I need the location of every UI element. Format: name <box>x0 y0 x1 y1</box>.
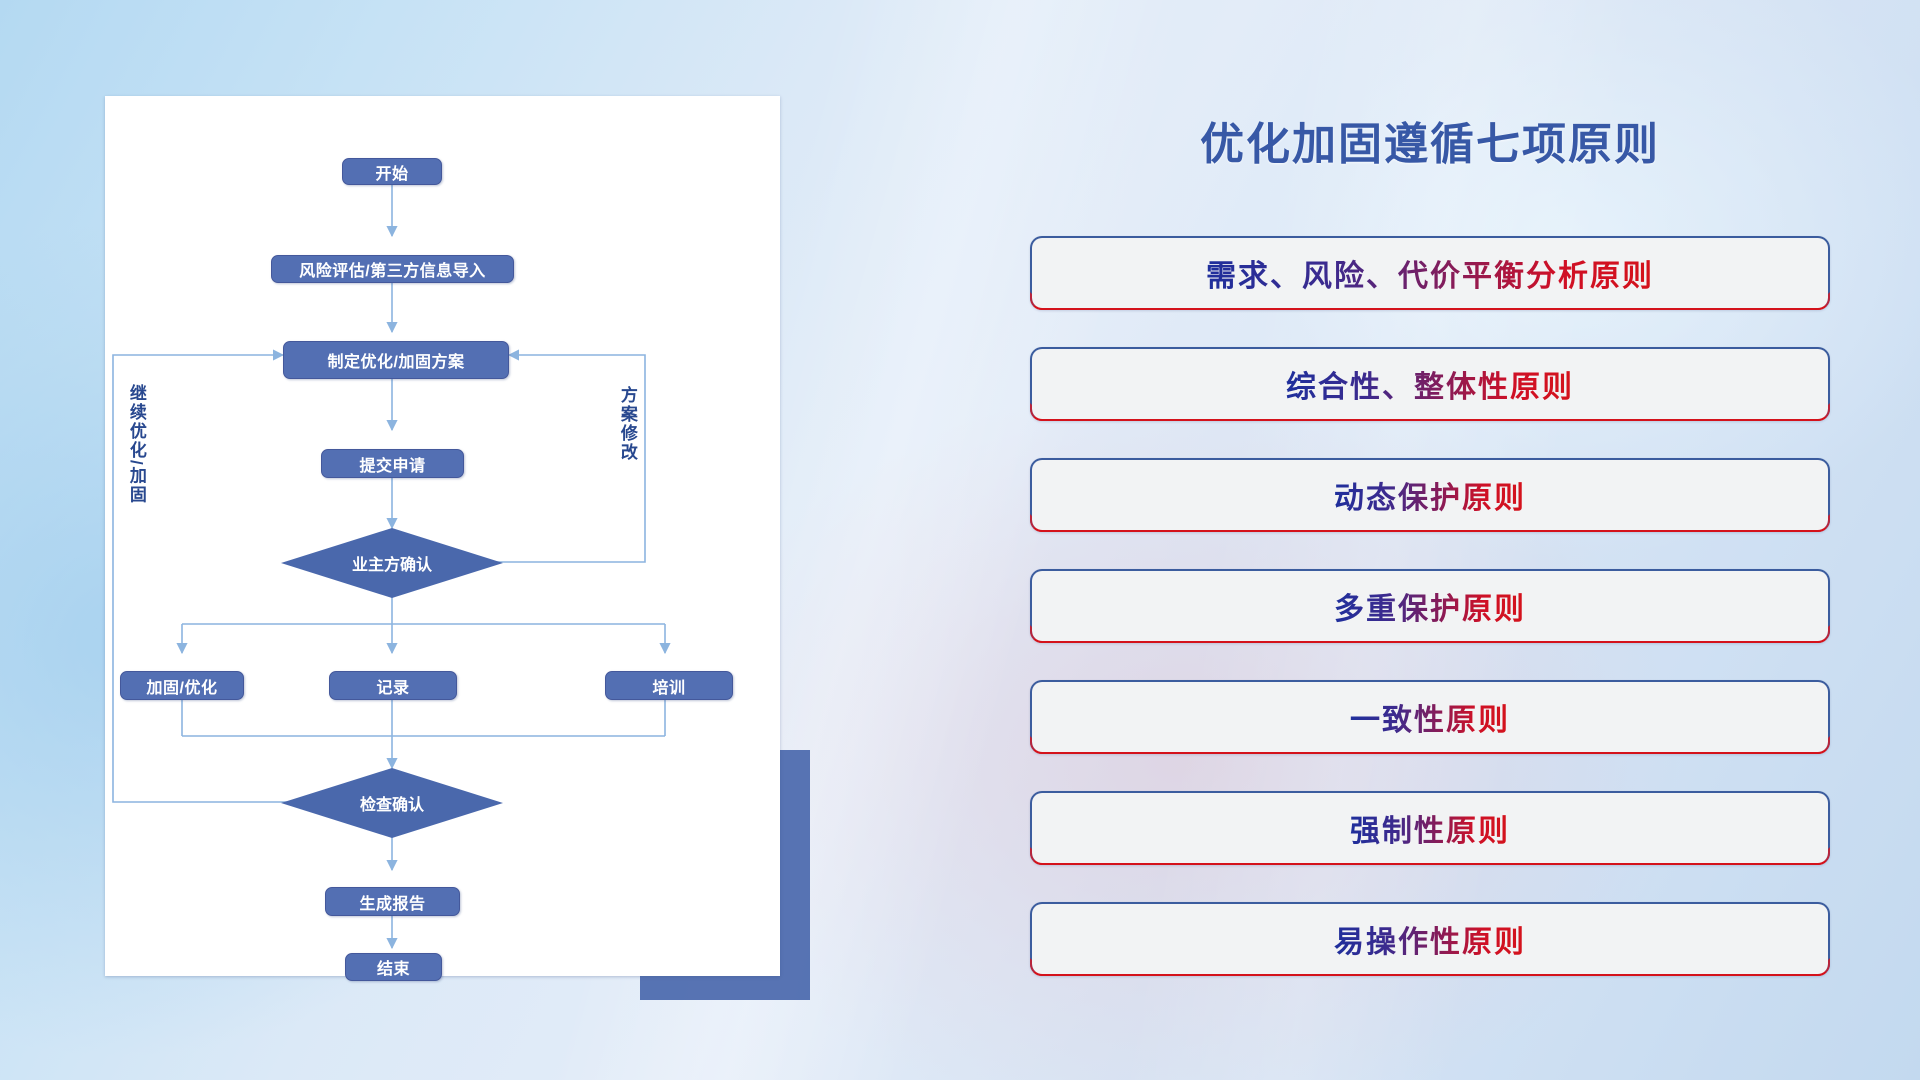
principle-card[interactable]: 综合性、整体性原则 <box>1030 347 1830 421</box>
principle-card-label: 多重保护原则 <box>1334 584 1526 628</box>
flow-node-submit-application[interactable]: 提交申请 <box>321 449 464 478</box>
flow-node-end[interactable]: 结束 <box>345 953 442 981</box>
principle-card[interactable]: 强制性原则 <box>1030 791 1830 865</box>
principle-card[interactable]: 多重保护原则 <box>1030 569 1830 643</box>
flow-node-training[interactable]: 培训 <box>605 671 733 700</box>
flow-node-start-label: 开始 <box>375 160 408 184</box>
principle-card-label: 需求、风险、代价平衡分析原则 <box>1206 251 1654 295</box>
flowchart-panel: 开始 风险评估/第三方信息导入 制定优化/加固方案 提交申请 业主方确认 加固/… <box>105 96 780 976</box>
principle-card-label: 动态保护原则 <box>1334 473 1526 517</box>
principle-card-label: 一致性原则 <box>1350 695 1510 739</box>
page-title: 优化加固遵循七项原则 <box>1030 108 1830 172</box>
principle-card[interactable]: 易操作性原则 <box>1030 902 1830 976</box>
flow-node-check-confirm-label: 检查确认 <box>360 791 424 815</box>
principle-card-label: 综合性、整体性原则 <box>1286 362 1574 406</box>
flow-node-record[interactable]: 记录 <box>329 671 457 700</box>
flow-node-generate-report-label: 生成报告 <box>359 890 425 914</box>
flow-node-record-label: 记录 <box>376 674 409 698</box>
principle-card[interactable]: 动态保护原则 <box>1030 458 1830 532</box>
flow-node-training-label: 培训 <box>652 674 685 698</box>
flow-node-owner-confirm-label: 业主方确认 <box>352 551 432 575</box>
flow-node-end-label: 结束 <box>377 955 410 979</box>
flow-node-risk-assessment[interactable]: 风险评估/第三方信息导入 <box>271 255 514 283</box>
flow-node-owner-confirm[interactable]: 业主方确认 <box>281 528 503 598</box>
principle-card[interactable]: 需求、风险、代价平衡分析原则 <box>1030 236 1830 310</box>
flow-node-check-confirm[interactable]: 检查确认 <box>281 768 503 838</box>
principle-card-label: 强制性原则 <box>1350 806 1510 850</box>
flow-node-generate-report[interactable]: 生成报告 <box>325 887 460 916</box>
flow-node-submit-application-label: 提交申请 <box>359 452 425 476</box>
principle-card-label: 易操作性原则 <box>1334 917 1526 961</box>
flow-node-risk-assessment-label: 风险评估/第三方信息导入 <box>299 257 485 281</box>
flowchart: 开始 风险评估/第三方信息导入 制定优化/加固方案 提交申请 业主方确认 加固/… <box>105 96 780 976</box>
flow-node-reinforce-optimize-label: 加固/优化 <box>147 674 218 698</box>
slide-canvas: 开始 风险评估/第三方信息导入 制定优化/加固方案 提交申请 业主方确认 加固/… <box>0 0 1920 1080</box>
flow-edge-label-left-loop: 继续优化/加固 <box>127 384 145 505</box>
flow-node-reinforce-optimize[interactable]: 加固/优化 <box>120 671 244 700</box>
flow-node-start[interactable]: 开始 <box>342 158 442 185</box>
principle-card[interactable]: 一致性原则 <box>1030 680 1830 754</box>
flow-edge-label-right-loop: 方案修改 <box>618 386 636 462</box>
flow-node-make-plan[interactable]: 制定优化/加固方案 <box>283 341 509 379</box>
flow-node-make-plan-label: 制定优化/加固方案 <box>328 348 465 372</box>
principles-list: 需求、风险、代价平衡分析原则 综合性、整体性原则 动态保护原则 多重保护原则 一… <box>1030 236 1830 1013</box>
